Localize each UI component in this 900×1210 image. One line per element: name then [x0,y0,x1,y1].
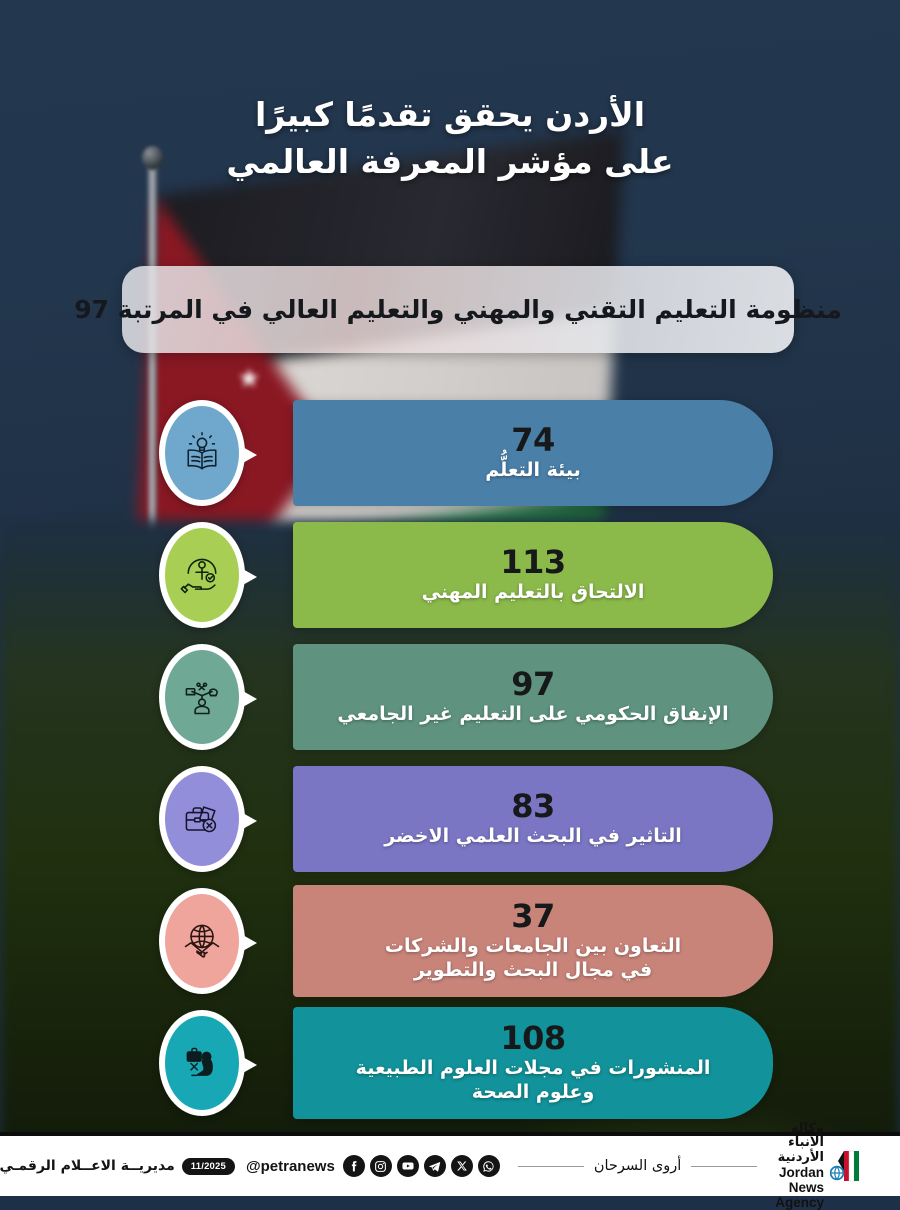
list-item: 37 التعاون بين الجامعات والشركات في مجال… [0,880,900,1002]
indicator-pill: 83 التاثير في البحث العلمي الاخضر [293,766,773,872]
list-item: 113 الالتحاق بالتعليم المهني [0,514,900,636]
handshake-globe-icon [180,919,224,963]
indicator-value: 74 [511,424,555,456]
hand-person-check-icon [180,553,224,597]
agency-name-arabic: وكالة الأنباء الأردنية [775,1122,824,1166]
telegram-icon[interactable] [424,1155,446,1177]
social-links[interactable] [343,1155,500,1177]
youtube-icon[interactable] [397,1155,419,1177]
book-lightbulb-icon [180,431,224,475]
footer-rule-left [691,1166,757,1167]
indicator-pill: 113 الالتحاق بالتعليم المهني [293,522,773,628]
indicator-icon-badge [159,1010,245,1116]
indicator-value: 108 [500,1022,565,1054]
indicator-icon-badge [159,522,245,628]
skills-person-icon [180,675,224,719]
briefcase-icon [180,797,224,841]
list-item: 74 بيئة التعلُّم [0,392,900,514]
indicator-list: 74 بيئة التعلُّم [0,392,900,1124]
infographic-content: الأردن يحقق تقدمًا كبيرًا على مؤشر المعر… [0,0,900,1196]
indicator-pill: 74 بيئة التعلُّم [293,400,773,506]
page-title: الأردن يحقق تقدمًا كبيرًا على مؤشر المعر… [0,92,900,186]
indicator-label: الالتحاق بالتعليم المهني [422,581,645,605]
whatsapp-icon[interactable] [478,1155,500,1177]
indicator-label: الإنفاق الحكومي على التعليم غير الجامعي [337,703,728,727]
author-name: أروى السرحان [594,1158,681,1174]
indicator-value: 83 [511,790,555,822]
subtitle-banner: منظومة التعليم التقني والمهني والتعليم ا… [122,266,794,353]
indicator-label: التعاون بين الجامعات والشركات في مجال ال… [385,935,681,983]
subtitle-text: منظومة التعليم التقني والمهني والتعليم ا… [74,295,842,324]
indicator-pill: 37 التعاون بين الجامعات والشركات في مجال… [293,885,773,997]
agency-name-english: Jordan News Agency [775,1165,824,1210]
indicator-value: 37 [511,900,555,932]
indicator-icon-badge [159,644,245,750]
indicator-label: التاثير في البحث العلمي الاخضر [384,825,682,849]
date-badge: 11/2025 [182,1158,235,1175]
title-line-2: على مؤشر المعرفة العالمي [0,139,900,186]
department-name: مديريــة الاعــلام الرقمـي [0,1158,175,1174]
indicator-value: 97 [511,668,555,700]
instagram-icon[interactable] [370,1155,392,1177]
list-item: 108 المنشورات في مجلات العلوم الطبيعية و… [0,1002,900,1124]
footer-bar: وكالة الأنباء الأردنية Jordan News Agenc… [0,1136,900,1196]
jordan-news-agency-mark-icon [830,1149,860,1183]
indicator-icon-badge [159,400,245,506]
indicator-icon-badge [159,766,245,872]
indicator-value: 113 [500,546,565,578]
agency-logo: وكالة الأنباء الأردنية Jordan News Agenc… [775,1122,860,1210]
indicator-pill: 97 الإنفاق الحكومي على التعليم غير الجام… [293,644,773,750]
list-item: 83 التاثير في البحث العلمي الاخضر [0,758,900,880]
footer-rule-right [518,1166,584,1167]
x-icon[interactable] [451,1155,473,1177]
indicator-pill: 108 المنشورات في مجلات العلوم الطبيعية و… [293,1007,773,1119]
social-handle[interactable]: @petranews [246,1158,335,1175]
title-line-1: الأردن يحقق تقدمًا كبيرًا [0,92,900,139]
person-sitting-icon [180,1041,224,1085]
indicator-label: المنشورات في مجلات العلوم الطبيعية وعلوم… [356,1057,711,1105]
indicator-label: بيئة التعلُّم [485,459,581,483]
indicator-icon-badge [159,888,245,994]
list-item: 97 الإنفاق الحكومي على التعليم غير الجام… [0,636,900,758]
facebook-icon[interactable] [343,1155,365,1177]
